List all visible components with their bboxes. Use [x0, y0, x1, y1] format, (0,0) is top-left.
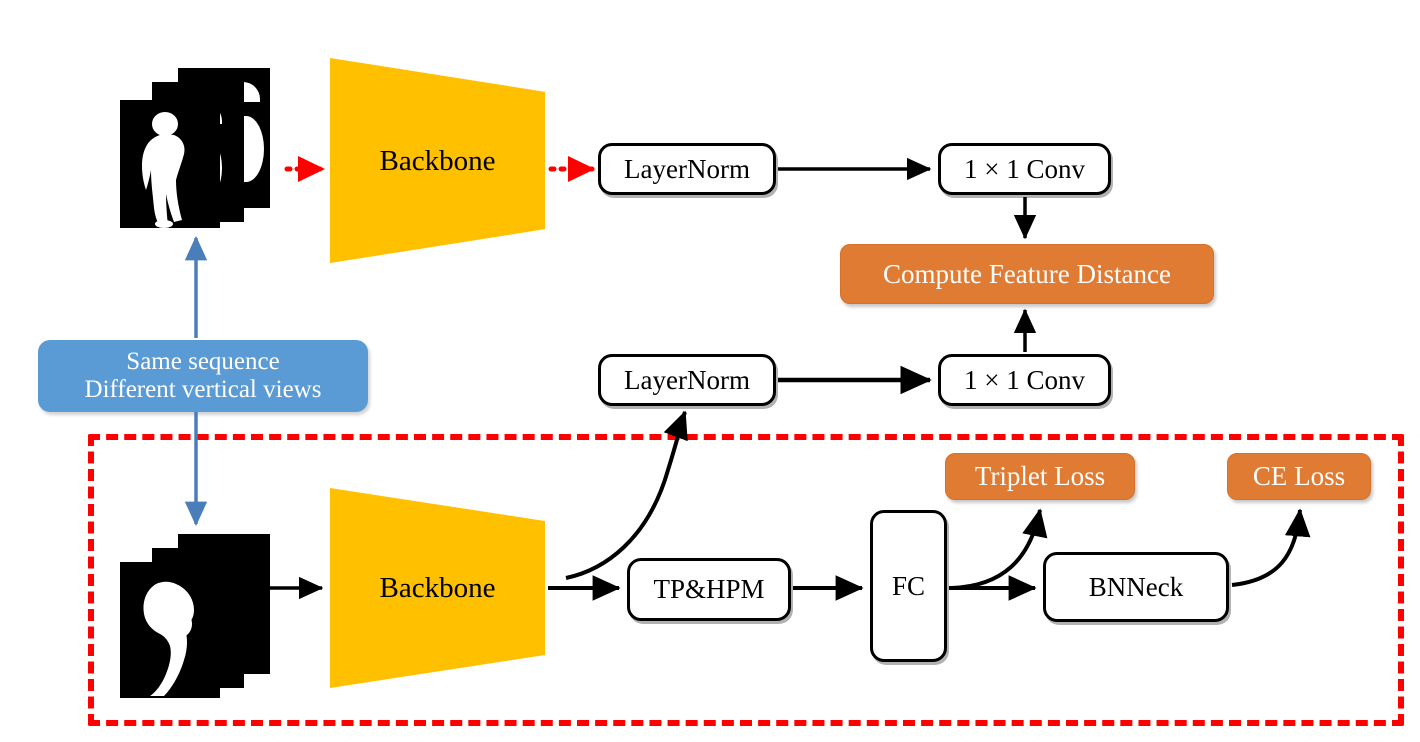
edge-fc-to-triplet-loss	[952, 510, 1040, 588]
connector-layer	[0, 0, 1420, 742]
edge-bnneck-to-ce-loss	[1232, 510, 1300, 585]
diagram-canvas: Backbone Backbone LayerNorm 1 × 1 Conv C…	[0, 0, 1420, 742]
edge-backbone-bottom-to-layernorm	[566, 412, 685, 578]
